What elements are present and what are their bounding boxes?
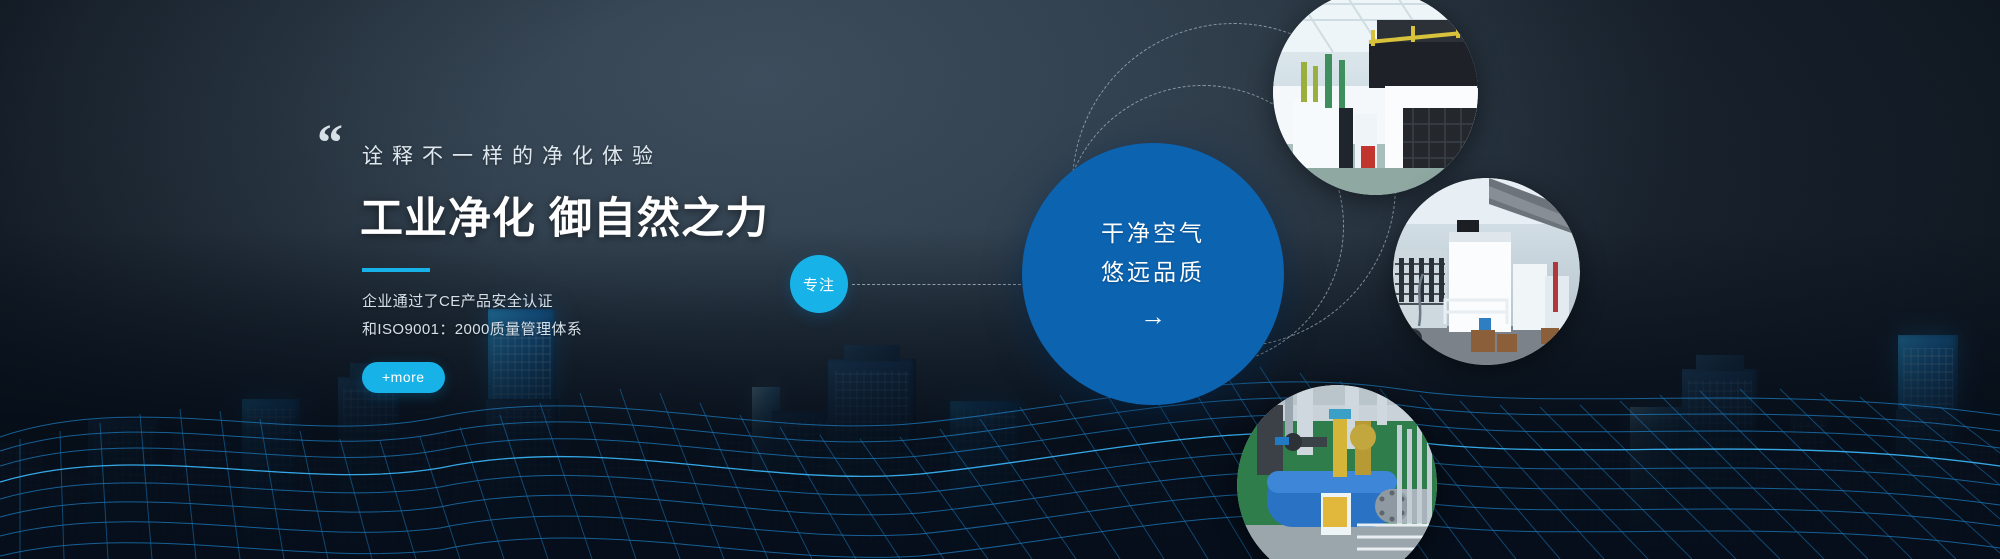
hero-description-line1: 企业通过了CE产品安全认证: [362, 288, 922, 316]
hero-title: 工业净化 御自然之力: [360, 184, 922, 246]
blue-highlight-circle[interactable]: 干净空气 悠远品质 →: [1022, 143, 1284, 405]
hero-description-line2: 和ISO9001：2000质量管理体系: [362, 316, 922, 344]
hero-description: 企业通过了CE产品安全认证 和ISO9001：2000质量管理体系: [362, 288, 922, 344]
more-button[interactable]: +more: [362, 362, 445, 393]
hero-subtitle: 诠释不一样的净化体验: [362, 140, 922, 170]
accent-divider: [362, 268, 430, 272]
arrow-right-icon[interactable]: →: [1140, 303, 1166, 329]
quote-mark-icon: “: [317, 118, 343, 170]
blue-circle-line1: 干净空气: [1101, 219, 1205, 248]
hero-text-block: “ 诠释不一样的净化体验 工业净化 御自然之力 企业通过了CE产品安全认证 和I…: [362, 118, 922, 393]
wireframe-terrain: [0, 319, 2000, 559]
hero-banner: 干净空气 悠远品质 → 专注 “ 诠释不一样的净化体验 工业净化 御自然之力 企…: [0, 0, 2000, 559]
photo-production-line: [1393, 178, 1580, 365]
blue-circle-line2: 悠远品质: [1101, 258, 1205, 287]
